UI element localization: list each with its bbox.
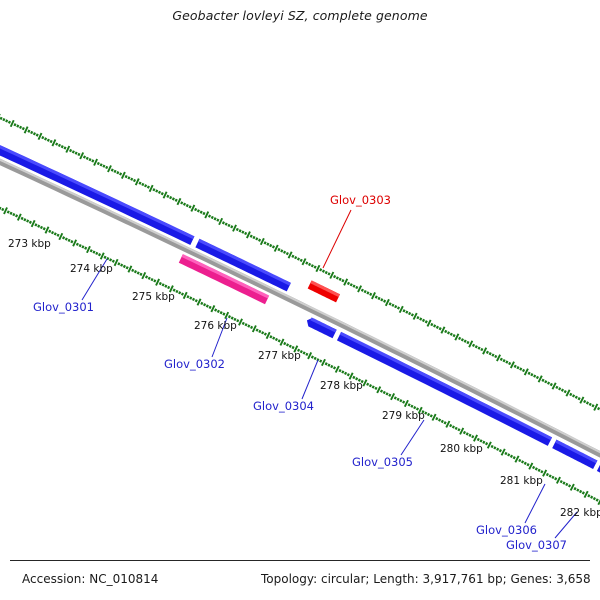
tick-mark-upper <box>330 272 333 278</box>
footer-divider <box>10 560 590 561</box>
tick-mark-lower <box>494 447 495 449</box>
tick-mark-lower <box>345 372 346 374</box>
tick-mark-lower <box>96 252 97 254</box>
tick-mark-lower <box>456 427 457 429</box>
tick-mark-upper <box>153 189 154 191</box>
tick-mark-lower <box>149 277 150 279</box>
tick-mark-upper <box>390 303 391 305</box>
tick-mark-upper <box>25 127 28 134</box>
accession-text: Accession: NC_010814 <box>22 572 158 586</box>
tick-mark-lower <box>101 253 104 260</box>
tick-mark-lower <box>91 250 92 252</box>
tick-mark-upper <box>195 208 196 210</box>
tick-mark-lower <box>458 429 459 431</box>
tick-mark-lower <box>453 426 454 428</box>
tick-mark-upper <box>342 280 343 282</box>
tick-mark-upper <box>112 169 113 171</box>
tick-mark-lower <box>128 266 131 273</box>
tick-mark-upper <box>598 407 599 409</box>
gene-label-glov_0304[interactable]: Glov_0304 <box>253 399 314 413</box>
tick-mark-lower <box>66 238 67 240</box>
tick-mark-upper <box>94 159 97 166</box>
tick-mark-upper <box>142 183 143 185</box>
tick-mark-upper <box>103 165 104 167</box>
tick-mark-upper <box>164 192 167 199</box>
tick-mark-upper <box>566 390 569 396</box>
tick-mark-upper <box>473 344 474 346</box>
scale-label-280kbp: 280 kbp <box>440 443 483 455</box>
tick-mark-upper <box>42 136 43 138</box>
tick-mark-lower <box>229 316 230 318</box>
tick-mark-lower <box>370 384 371 386</box>
tick-mark-upper <box>191 205 194 212</box>
tick-mark-lower <box>13 213 14 215</box>
tick-mark-upper <box>344 279 347 285</box>
tick-mark-lower <box>32 220 35 227</box>
tick-mark-upper <box>580 397 583 403</box>
tick-mark-upper <box>261 238 264 244</box>
tick-mark-upper <box>412 314 413 316</box>
tick-mark-lower <box>328 364 329 366</box>
tick-mark-upper <box>441 327 444 333</box>
tick-mark-upper <box>423 319 424 321</box>
tick-mark-lower <box>69 239 70 241</box>
tick-mark-upper <box>64 147 65 149</box>
tick-mark-lower <box>428 413 429 415</box>
tick-mark-upper <box>184 203 185 205</box>
tick-mark-upper <box>48 139 49 141</box>
tick-mark-upper <box>219 218 222 225</box>
tick-mark-lower <box>446 421 449 427</box>
gene-highlight <box>340 332 552 440</box>
tick-mark-upper <box>209 215 210 217</box>
tick-mark-lower <box>77 243 78 245</box>
tick-mark-lower <box>529 463 532 469</box>
tick-mark-upper <box>559 388 560 390</box>
tick-mark-lower <box>541 471 542 473</box>
tick-mark-lower <box>514 457 515 459</box>
tick-mark-lower <box>414 406 415 408</box>
tick-mark-upper <box>451 333 452 335</box>
tick-mark-lower <box>221 312 222 314</box>
tick-mark-upper <box>587 402 588 404</box>
tick-mark-upper <box>245 232 246 234</box>
tick-mark-upper <box>362 289 363 291</box>
tick-mark-lower <box>304 352 305 354</box>
tick-mark-upper <box>256 238 257 240</box>
tick-mark-lower <box>306 353 307 355</box>
tick-mark-upper <box>170 196 171 198</box>
tick-mark-lower <box>367 383 368 385</box>
tick-mark-upper <box>492 354 493 356</box>
scale-label-276kbp: 276 kbp <box>194 320 237 332</box>
tick-mark-lower <box>464 431 465 433</box>
tick-mark-lower <box>308 352 311 358</box>
tick-mark-upper <box>511 362 514 368</box>
tick-mark-lower <box>566 483 567 485</box>
scale-label-279kbp: 279 kbp <box>382 410 425 422</box>
tick-mark-lower <box>16 215 17 217</box>
tick-mark-upper <box>80 152 83 159</box>
tick-mark-upper <box>117 172 118 174</box>
tick-mark-upper <box>247 232 250 238</box>
tick-mark-lower <box>257 329 258 331</box>
tick-mark-upper <box>453 334 454 336</box>
tick-mark-lower <box>398 398 399 400</box>
tick-mark-lower <box>353 376 354 378</box>
tick-mark-lower <box>85 247 86 249</box>
tick-mark-upper <box>434 325 435 327</box>
tick-mark-lower <box>2 208 3 210</box>
tick-mark-upper <box>275 245 278 251</box>
tick-mark-lower <box>320 360 321 362</box>
tick-mark-upper <box>9 121 10 123</box>
tick-mark-lower <box>218 310 219 312</box>
tick-mark-lower <box>265 333 266 335</box>
tick-mark-upper <box>240 230 241 232</box>
tick-mark-lower <box>515 456 518 462</box>
tick-mark-lower <box>184 292 187 298</box>
gene-label-glov_0303[interactable]: Glov_0303 <box>330 193 391 207</box>
tick-mark-lower <box>322 359 325 365</box>
tick-mark-upper <box>372 292 375 298</box>
tick-mark-upper <box>278 248 279 250</box>
gene-label-glov_0302[interactable]: Glov_0302 <box>164 357 225 371</box>
tick-mark-upper <box>384 300 385 302</box>
tick-mark-lower <box>44 228 45 230</box>
tick-mark-lower <box>262 332 263 334</box>
tick-mark-upper <box>320 269 321 271</box>
gene-labels[interactable]: Glov_0301Glov_0302Glov_0303Glov_0304Glov… <box>33 193 567 552</box>
tick-mark-lower <box>389 394 390 396</box>
scale-label-273kbp: 273 kbp <box>8 238 51 250</box>
tick-mark-upper <box>289 252 292 258</box>
tick-mark-upper <box>106 166 107 168</box>
tick-mark-lower <box>259 330 260 332</box>
tick-mark-lower <box>539 469 540 471</box>
genome-stats-text: Topology: circular; Length: 3,917,761 bp… <box>261 572 591 586</box>
tick-mark-upper <box>426 321 427 323</box>
genome-map-canvas[interactable]: 273 kbp274 kbp275 kbp276 kbp277 kbp278 k… <box>0 0 600 600</box>
tick-mark-lower <box>474 435 477 441</box>
tick-mark-upper <box>201 211 202 213</box>
tick-mark-upper <box>3 118 4 120</box>
tick-mark-upper <box>406 311 407 313</box>
tick-mark-upper <box>356 286 357 288</box>
tick-mark-upper <box>281 250 282 252</box>
tick-mark-upper <box>420 318 421 320</box>
tick-mark-upper <box>92 160 93 162</box>
tick-mark-upper <box>23 127 24 129</box>
tick-mark-lower <box>547 473 548 475</box>
tick-mark-lower <box>436 418 437 420</box>
tick-mark-lower <box>179 292 180 294</box>
tick-mark-upper <box>34 133 35 135</box>
tick-mark-upper <box>351 284 352 286</box>
tick-mark-lower <box>336 366 339 372</box>
tick-mark-lower <box>124 265 125 267</box>
tick-mark-upper <box>217 219 218 221</box>
tick-mark-upper <box>126 175 127 177</box>
tick-mark-lower <box>160 282 161 284</box>
tick-mark-upper <box>73 151 74 153</box>
tick-mark-upper <box>301 259 302 261</box>
tick-mark-upper <box>273 246 274 248</box>
tick-mark-lower <box>38 225 39 227</box>
tick-mark-lower <box>334 367 335 369</box>
tick-mark-lower <box>557 477 560 483</box>
tick-mark-lower <box>511 455 512 457</box>
tick-arc-lower <box>0 179 600 519</box>
leader-line-glov_0305 <box>401 420 424 455</box>
tick-mark-upper <box>467 341 468 343</box>
leader-line-glov_0303 <box>323 210 351 268</box>
tick-mark-lower <box>287 344 288 346</box>
tick-mark-upper <box>386 299 389 305</box>
tick-mark-lower <box>8 211 9 213</box>
tick-mark-upper <box>242 231 243 233</box>
tick-mark-lower <box>215 309 216 311</box>
tick-mark-lower <box>27 220 28 222</box>
tick-mark-upper <box>334 275 335 277</box>
tick-mark-lower <box>11 212 12 214</box>
tick-mark-lower <box>204 304 205 306</box>
tick-mark-upper <box>576 396 577 398</box>
tick-mark-upper <box>448 332 449 334</box>
tick-mark-upper <box>38 133 41 140</box>
tick-mark-upper <box>501 358 502 360</box>
scale-label-274kbp: 274 kbp <box>70 263 113 275</box>
tick-mark-lower <box>450 424 451 426</box>
tick-mark-lower <box>63 237 64 239</box>
tick-mark-lower <box>182 293 183 295</box>
tick-mark-upper <box>455 334 458 340</box>
tick-mark-upper <box>131 178 132 180</box>
tick-mark-upper <box>328 273 329 275</box>
tick-mark-upper <box>265 242 266 244</box>
tick-mark-upper <box>187 204 188 206</box>
tick-mark-upper <box>440 328 441 330</box>
tick-mark-upper <box>490 353 491 355</box>
tick-mark-lower <box>502 449 505 455</box>
tick-mark-upper <box>253 236 254 238</box>
tick-mark-lower <box>237 320 238 322</box>
tick-mark-upper <box>231 226 232 228</box>
gene-label-glov_0301[interactable]: Glov_0301 <box>33 300 94 314</box>
gene-label-glov_0305[interactable]: Glov_0305 <box>352 455 413 469</box>
scale-label-281kbp: 281 kbp <box>500 475 543 487</box>
tick-mark-upper <box>437 326 438 328</box>
tick-mark-lower <box>248 325 249 327</box>
tick-mark-lower <box>583 492 584 494</box>
tick-mark-lower <box>543 470 546 476</box>
gene-label-glov_0306[interactable]: Glov_0306 <box>476 523 537 537</box>
tick-mark-lower <box>243 322 244 324</box>
tick-mark-lower <box>57 234 58 236</box>
tick-mark-lower <box>132 269 133 271</box>
tick-mark-lower <box>176 290 177 292</box>
tick-mark-lower <box>492 445 493 447</box>
tick-mark-lower <box>432 414 435 420</box>
tick-mark-upper <box>403 310 404 312</box>
tick-mark-lower <box>519 459 520 461</box>
tick-mark-upper <box>233 225 236 231</box>
tick-mark-upper <box>400 306 403 312</box>
tick-mark-lower <box>363 380 366 386</box>
tick-mark-upper <box>159 191 160 193</box>
genome-map-viewer: Geobacter lovleyi SZ, complete genome 27… <box>0 0 600 600</box>
tick-mark-upper <box>270 244 271 246</box>
tick-mark-upper <box>156 190 157 192</box>
tick-mark-upper <box>573 395 574 397</box>
tick-mark-upper <box>223 222 224 224</box>
tick-mark-upper <box>101 164 102 166</box>
tick-mark-lower <box>508 454 509 456</box>
tick-mark-upper <box>315 266 316 268</box>
tick-mark-lower <box>373 386 374 388</box>
tick-mark-upper <box>203 212 204 214</box>
tick-mark-lower <box>30 221 31 223</box>
tick-mark-lower <box>82 246 83 248</box>
tick-mark-lower <box>405 400 408 406</box>
tick-mark-upper <box>128 177 129 179</box>
tick-mark-upper <box>539 376 542 382</box>
tick-mark-lower <box>442 420 443 422</box>
tick-mark-lower <box>113 260 114 262</box>
tick-mark-upper <box>59 144 60 146</box>
scale-label-278kbp: 278 kbp <box>320 380 363 392</box>
tick-mark-lower <box>0 207 1 209</box>
tick-mark-lower <box>104 256 105 258</box>
tick-mark-upper <box>584 400 585 402</box>
tick-mark-upper <box>295 256 296 258</box>
tick-mark-upper <box>515 365 516 367</box>
tick-mark-upper <box>487 351 488 353</box>
tick-mark-lower <box>597 499 598 501</box>
tick-mark-lower <box>80 244 81 246</box>
tick-mark-lower <box>35 224 36 226</box>
tick-mark-upper <box>565 390 566 392</box>
tick-mark-lower <box>552 476 553 478</box>
tick-mark-upper <box>376 296 377 298</box>
tick-mark-lower <box>488 442 491 448</box>
tick-mark-lower <box>377 387 380 393</box>
tick-mark-lower <box>563 482 564 484</box>
tick-mark-upper <box>548 382 549 384</box>
tick-mark-lower <box>190 297 191 299</box>
tick-mark-upper <box>323 270 324 272</box>
tick-mark-upper <box>462 339 463 341</box>
tick-mark-lower <box>138 272 139 274</box>
tick-mark-lower <box>118 263 119 265</box>
tick-mark-upper <box>309 263 310 265</box>
tick-mark-upper <box>395 305 396 307</box>
tick-mark-lower <box>395 397 396 399</box>
tick-mark-upper <box>523 369 524 371</box>
gene-label-glov_0307[interactable]: Glov_0307 <box>506 538 567 552</box>
tick-mark-upper <box>237 228 238 230</box>
tick-mark-lower <box>569 485 570 487</box>
tick-mark-upper <box>409 312 410 314</box>
tick-mark-lower <box>168 286 169 288</box>
tick-mark-lower <box>146 276 147 278</box>
tick-mark-lower <box>431 415 432 417</box>
tick-mark-upper <box>136 179 139 186</box>
tick-mark-lower <box>522 461 523 463</box>
tick-mark-upper <box>45 138 46 140</box>
tick-mark-lower <box>276 338 277 340</box>
tick-mark-lower <box>115 259 118 266</box>
tick-mark-upper <box>267 243 268 245</box>
tick-mark-lower <box>348 374 349 376</box>
tick-mark-lower <box>486 443 487 445</box>
tick-mark-upper <box>570 393 571 395</box>
tick-mark-upper <box>89 158 90 160</box>
tick-mark-upper <box>469 341 472 347</box>
tick-mark-lower <box>472 436 473 438</box>
tick-mark-upper <box>398 307 399 309</box>
tick-mark-lower <box>267 332 270 338</box>
tick-mark-upper <box>504 360 505 362</box>
tick-mark-lower <box>555 478 556 480</box>
tick-mark-upper <box>537 376 538 378</box>
tick-mark-lower <box>527 464 528 466</box>
tick-mark-upper <box>378 297 379 299</box>
tick-mark-lower <box>439 419 440 421</box>
tick-mark-upper <box>465 340 466 342</box>
tick-mark-upper <box>517 367 518 369</box>
tick-mark-lower <box>445 422 446 424</box>
tick-mark-lower <box>584 491 587 497</box>
tick-mark-upper <box>525 369 528 375</box>
tick-mark-lower <box>580 490 581 492</box>
tick-mark-upper <box>592 405 593 407</box>
tick-mark-upper <box>145 185 146 187</box>
tick-mark-lower <box>165 285 166 287</box>
tick-mark-lower <box>197 299 200 305</box>
tick-mark-upper <box>302 258 305 264</box>
tick-mark-upper <box>114 170 115 172</box>
tick-mark-upper <box>381 299 382 301</box>
tick-mark-lower <box>18 214 21 221</box>
tick-mark-upper <box>534 375 535 377</box>
tick-mark-lower <box>480 440 481 442</box>
tick-mark-lower <box>270 336 271 338</box>
tick-mark-upper <box>134 179 135 181</box>
tick-mark-lower <box>245 324 246 326</box>
gene-glov_0301[interactable] <box>0 136 194 245</box>
tick-mark-lower <box>280 339 283 345</box>
tick-mark-lower <box>381 390 382 392</box>
tick-mark-lower <box>87 246 90 253</box>
tick-mark-upper <box>392 304 393 306</box>
tick-mark-lower <box>99 254 100 256</box>
tick-mark-upper <box>348 282 349 284</box>
tick-mark-upper <box>228 224 229 226</box>
tick-mark-lower <box>375 387 376 389</box>
tick-mark-upper <box>579 398 580 400</box>
tick-mark-lower <box>425 412 426 414</box>
tick-mark-lower <box>409 404 410 406</box>
tick-mark-lower <box>574 488 575 490</box>
tick-mark-lower <box>500 450 501 452</box>
tick-mark-lower <box>339 369 340 371</box>
tick-mark-upper <box>76 152 77 154</box>
tick-mark-upper <box>365 290 366 292</box>
tick-mark-upper <box>531 374 532 376</box>
tick-mark-lower <box>201 302 202 304</box>
tick-mark-upper <box>173 198 174 200</box>
